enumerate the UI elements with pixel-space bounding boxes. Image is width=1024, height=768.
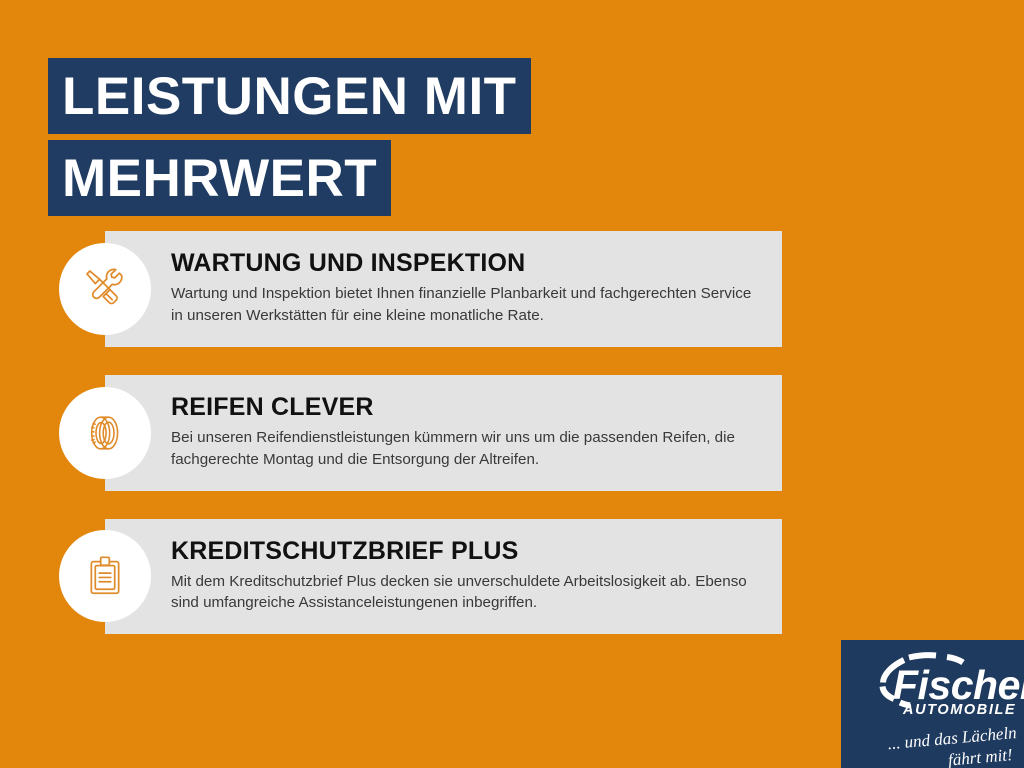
clipboard-icon: [59, 530, 151, 622]
company-logo: Fischer AUTOMOBILE ... und das Lächeln f…: [841, 640, 1024, 768]
card-description: Wartung und Inspektion bietet Ihnen fina…: [171, 283, 756, 327]
card-title: REIFEN CLEVER: [171, 393, 756, 421]
card-body: KREDITSCHUTZBRIEF PLUS Mit dem Kreditsch…: [171, 537, 756, 615]
logo-wordmark: Fischer AUTOMOBILE: [841, 644, 1024, 716]
wrench-screwdriver-icon: [59, 243, 151, 335]
card-title: KREDITSCHUTZBRIEF PLUS: [171, 537, 756, 565]
service-card-list: WARTUNG UND INSPEKTION Wartung und Inspe…: [105, 231, 782, 634]
page-title-line-1: LEISTUNGEN MIT: [48, 58, 531, 134]
logo-tagline: ... und das Lächeln fährt mit!: [841, 716, 1024, 768]
card-body: WARTUNG UND INSPEKTION Wartung und Inspe…: [171, 249, 756, 327]
service-card-kreditschutzbrief-plus[interactable]: KREDITSCHUTZBRIEF PLUS Mit dem Kreditsch…: [105, 519, 782, 635]
logo-tagline-line-2: fährt mit!: [947, 745, 1013, 768]
page-title: LEISTUNGEN MIT MEHRWERT: [48, 58, 531, 216]
logo-subbrand-text: AUTOMOBILE: [902, 702, 1016, 716]
card-title: WARTUNG UND INSPEKTION: [171, 249, 756, 277]
service-card-reifen-clever[interactable]: REIFEN CLEVER Bei unseren Reifendienstle…: [105, 375, 782, 491]
service-card-wartung-und-inspektion[interactable]: WARTUNG UND INSPEKTION Wartung und Inspe…: [105, 231, 782, 347]
card-body: REIFEN CLEVER Bei unseren Reifendienstle…: [171, 393, 756, 471]
card-description: Bei unseren Reifendienstleistungen kümme…: [171, 427, 756, 471]
page-title-line-2: MEHRWERT: [48, 140, 391, 216]
tire-icon: [59, 387, 151, 479]
card-description: Mit dem Kreditschutzbrief Plus decken si…: [171, 571, 756, 615]
